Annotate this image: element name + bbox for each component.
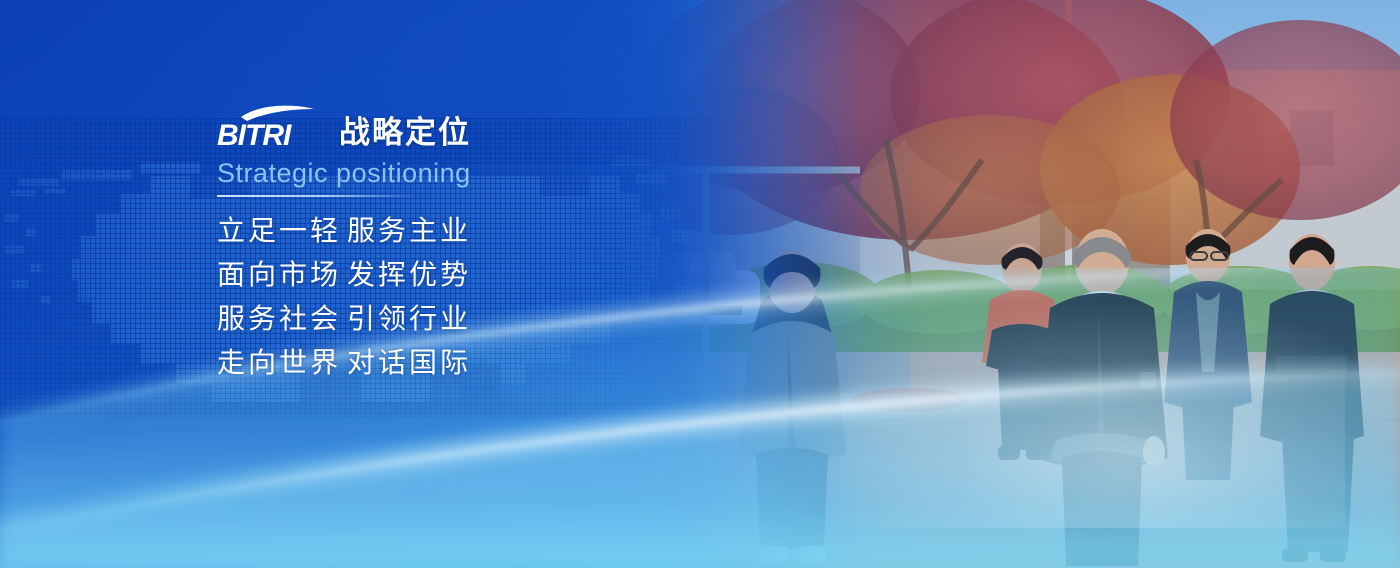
- brand-title-cn: 战略定位: [339, 117, 471, 150]
- bitri-logo: BITRI: [217, 104, 325, 150]
- slogan-left: 面向市场: [217, 261, 347, 289]
- slogan-line: 面向市场 发挥优势: [217, 261, 777, 289]
- slogan-line: 服务社会 引领行业: [217, 305, 777, 333]
- title-underline: [217, 195, 415, 197]
- slogan-line: 走向世界 对话国际: [217, 349, 777, 377]
- strategic-positioning-banner: BITRI 战略定位 Strategic positioning 立足一轻 服务…: [0, 0, 1400, 568]
- slogan-right: 服务主业: [347, 217, 471, 245]
- slogan-right: 对话国际: [347, 349, 471, 377]
- brand-lockup: BITRI 战略定位: [217, 104, 777, 150]
- slogan-left: 立足一轻: [217, 217, 347, 245]
- slogan-right: 发挥优势: [347, 261, 471, 289]
- slogan-left: 走向世界: [217, 349, 347, 377]
- brand-subtitle-en: Strategic positioning: [217, 159, 777, 189]
- slogan-block: 立足一轻 服务主业 面向市场 发挥优势 服务社会 引领行业 走向世界 对话国际: [217, 217, 777, 377]
- slogan-right: 引领行业: [347, 305, 471, 333]
- banner-content: BITRI 战略定位 Strategic positioning 立足一轻 服务…: [217, 104, 777, 377]
- slogan-left: 服务社会: [217, 305, 347, 333]
- svg-text:BITRI: BITRI: [217, 119, 292, 150]
- slogan-line: 立足一轻 服务主业: [217, 217, 777, 245]
- swoosh-arc-icon: BITRI: [217, 104, 325, 150]
